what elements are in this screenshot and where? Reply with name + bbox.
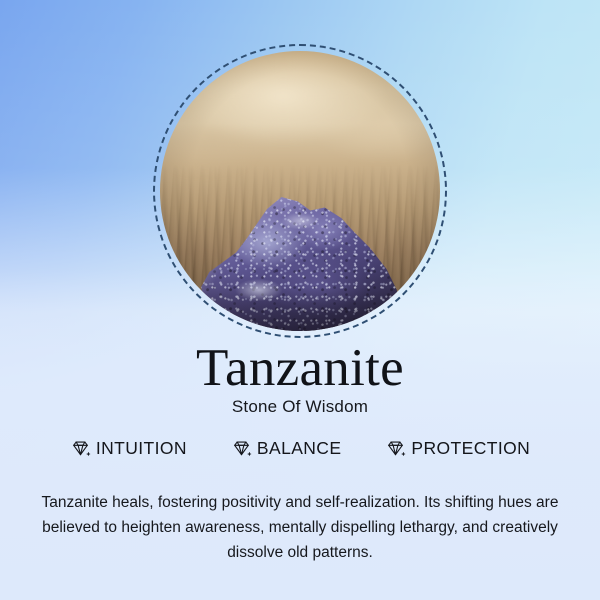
keyword-row: INTUITION BALANCE bbox=[0, 438, 600, 459]
gem-icon bbox=[231, 438, 252, 459]
keyword-label: PROTECTION bbox=[411, 438, 530, 459]
page-title: Tanzanite bbox=[0, 342, 600, 395]
keyword-item: INTUITION bbox=[70, 438, 187, 459]
keyword-label: BALANCE bbox=[257, 438, 342, 459]
gem-icon bbox=[70, 438, 91, 459]
description-text: Tanzanite heals, fostering positivity an… bbox=[38, 490, 562, 565]
crystal-info-card: Tanzanite Stone Of Wisdom INTUITION bbox=[0, 0, 600, 600]
crystal-photo bbox=[160, 51, 440, 331]
keyword-item: PROTECTION bbox=[385, 438, 530, 459]
subtitle: Stone Of Wisdom bbox=[0, 398, 600, 415]
keyword-item: BALANCE bbox=[231, 438, 342, 459]
gem-icon bbox=[385, 438, 406, 459]
photo-vignette bbox=[160, 51, 440, 331]
keyword-label: INTUITION bbox=[96, 438, 187, 459]
